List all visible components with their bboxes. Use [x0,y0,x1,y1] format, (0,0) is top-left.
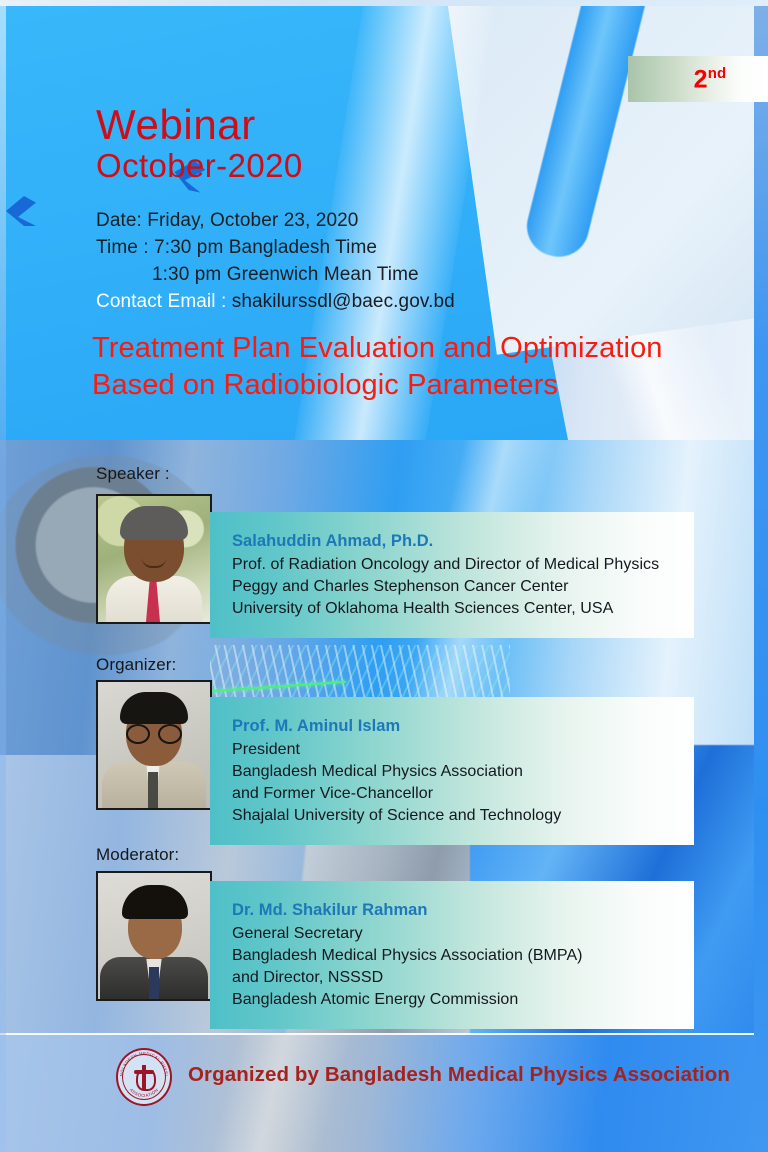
event-details: Date: Friday, October 23, 2020 Time : 7:… [96,208,455,316]
page-subtitle: October-2020 [96,147,303,186]
role-label-moderator: Moderator: [96,845,179,865]
edition-number: 2 [694,65,708,93]
speaker-name: Salahuddin Ahmad, Ph.D. [232,532,694,551]
contact-email-address[interactable]: shakilurssdl@baec.gov.bd [232,291,455,312]
organizer-card: Prof. M. Aminul Islam President Banglade… [210,697,694,845]
speaker-portrait [98,496,210,622]
event-time-secondary: 1:30 pm Greenwich Mean Time [96,262,455,289]
webinar-poster: 2nd Webinar October-2020 Date: Friday, O… [0,0,768,1152]
background-right-edge [754,0,768,1152]
moderator-line: Bangladesh Atomic Energy Commission [232,989,694,1011]
moderator-line: and Director, NSSSD [232,967,694,989]
speaker-card: Salahuddin Ahmad, Ph.D. Prof. of Radiati… [210,512,694,638]
edition-badge: 2nd [628,56,768,102]
moderator-photo [96,871,212,1001]
event-time-primary: Time : 7:30 pm Bangladesh Time [96,235,455,262]
speaker-line: University of Oklahoma Health Sciences C… [232,598,694,620]
bmpa-logo-icon: BANGLADESH MEDICAL PHYSICS ASSOCIATION [116,1048,172,1106]
organizer-line: Bangladesh Medical Physics Association [232,761,694,783]
organizer-line: President [232,739,694,761]
poster-header: Webinar October-2020 [96,104,303,186]
organizer-line: and Former Vice-Chancellor [232,783,694,805]
role-label-speaker: Speaker : [96,464,170,484]
background-left-edge [0,0,6,1152]
organizer-line: Shajalal University of Science and Techn… [232,805,694,827]
footer-divider-rule [0,1033,768,1035]
footer-organizer-text: Organized by Bangladesh Medical Physics … [188,1063,730,1087]
speaker-line: Peggy and Charles Stephenson Cancer Cent… [232,576,694,598]
edition-suffix: nd [708,65,727,82]
moderator-line: General Secretary [232,923,694,945]
organizer-photo [96,680,212,810]
moderator-portrait [98,873,210,999]
edition-badge-text: 2nd [694,66,727,92]
moderator-line: Bangladesh Medical Physics Association (… [232,945,694,967]
speaker-photo [96,494,212,624]
organizer-name: Prof. M. Aminul Islam [232,717,694,736]
logo-caduceus-icon [134,1065,154,1089]
talk-title: Treatment Plan Evaluation and Optimizati… [92,330,692,403]
moderator-name: Dr. Md. Shakilur Rahman [232,901,694,920]
background-top-edge [0,0,768,6]
event-date: Date: Friday, October 23, 2020 [96,208,455,235]
moderator-card: Dr. Md. Shakilur Rahman General Secretar… [210,881,694,1029]
role-label-organizer: Organizer: [96,655,176,675]
contact-email-row: Contact Email : shakilurssdl@baec.gov.bd [96,289,455,316]
organizer-portrait [98,682,210,808]
page-title: Webinar [96,104,303,147]
contact-email-label: Contact Email : [96,291,232,312]
speaker-line: Prof. of Radiation Oncology and Director… [232,554,694,576]
